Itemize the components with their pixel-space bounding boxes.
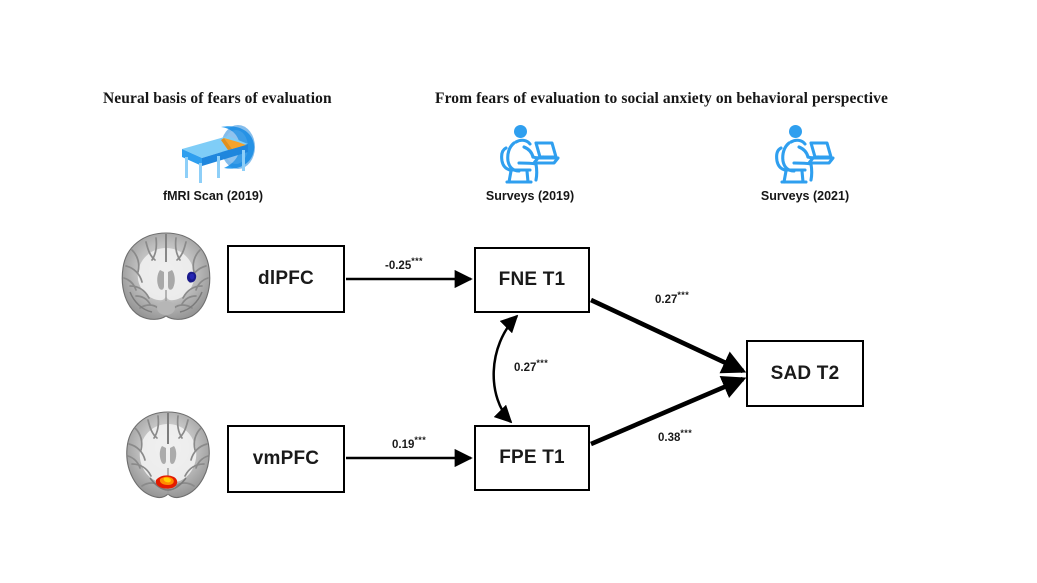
brain-slice-vmpfc — [116, 408, 220, 506]
coefficient-value: 0.19 — [392, 439, 414, 451]
brain-slice-dlpfc — [112, 228, 220, 328]
node-box-vmpfc[interactable]: vmPFC — [227, 425, 345, 493]
node-box-dlpfc[interactable]: dlPFC — [227, 245, 345, 313]
icon-caption-fmri: fMRI Scan (2019) — [135, 189, 291, 203]
mri-scanner-icon — [166, 119, 260, 187]
icon-caption-survey-2019: Surveys (2019) — [455, 189, 605, 203]
significance-stars: *** — [677, 290, 689, 300]
node-box-fpe-t1[interactable]: FPE T1 — [474, 425, 590, 491]
node-box-fne-t1[interactable]: FNE T1 — [474, 247, 590, 313]
significance-stars: *** — [680, 428, 692, 438]
path-label-dlpfc-to-fne: -0.25*** — [385, 256, 423, 272]
icon-caption-survey-2021: Surveys (2021) — [730, 189, 880, 203]
arrow-fne-to-sad — [591, 300, 743, 371]
node-label-dlpfc: dlPFC — [258, 268, 314, 290]
significance-stars: *** — [536, 358, 548, 368]
node-label-vmpfc: vmPFC — [253, 448, 319, 470]
survey-person-laptop-icon-2021 — [771, 122, 839, 186]
node-box-sad-t2[interactable]: SAD T2 — [746, 340, 864, 407]
coefficient-value: 0.27 — [655, 294, 677, 306]
coefficient-value: 0.27 — [514, 362, 536, 374]
figure-canvas: Neural basis of fears of evaluation From… — [0, 0, 1037, 583]
path-label-vmpfc-to-fpe: 0.19*** — [392, 435, 426, 451]
coefficient-value: -0.25 — [385, 260, 411, 272]
significance-stars: *** — [414, 435, 426, 445]
survey-person-laptop-icon-2019 — [496, 122, 564, 186]
path-label-fne-with-fpe: 0.27*** — [514, 358, 548, 374]
path-label-fpe-to-sad: 0.38*** — [658, 428, 692, 444]
path-label-fne-to-sad: 0.27*** — [655, 290, 689, 306]
node-label-fne-t1: FNE T1 — [499, 269, 566, 291]
coefficient-value: 0.38 — [658, 432, 680, 444]
brain-activation-blob-vmpfc — [156, 475, 177, 488]
section-header-left: Neural basis of fears of evaluation — [103, 90, 332, 108]
significance-stars: *** — [411, 256, 423, 266]
node-label-fpe-t1: FPE T1 — [499, 447, 565, 469]
section-header-right: From fears of evaluation to social anxie… — [435, 90, 888, 108]
node-label-sad-t2: SAD T2 — [771, 363, 840, 385]
